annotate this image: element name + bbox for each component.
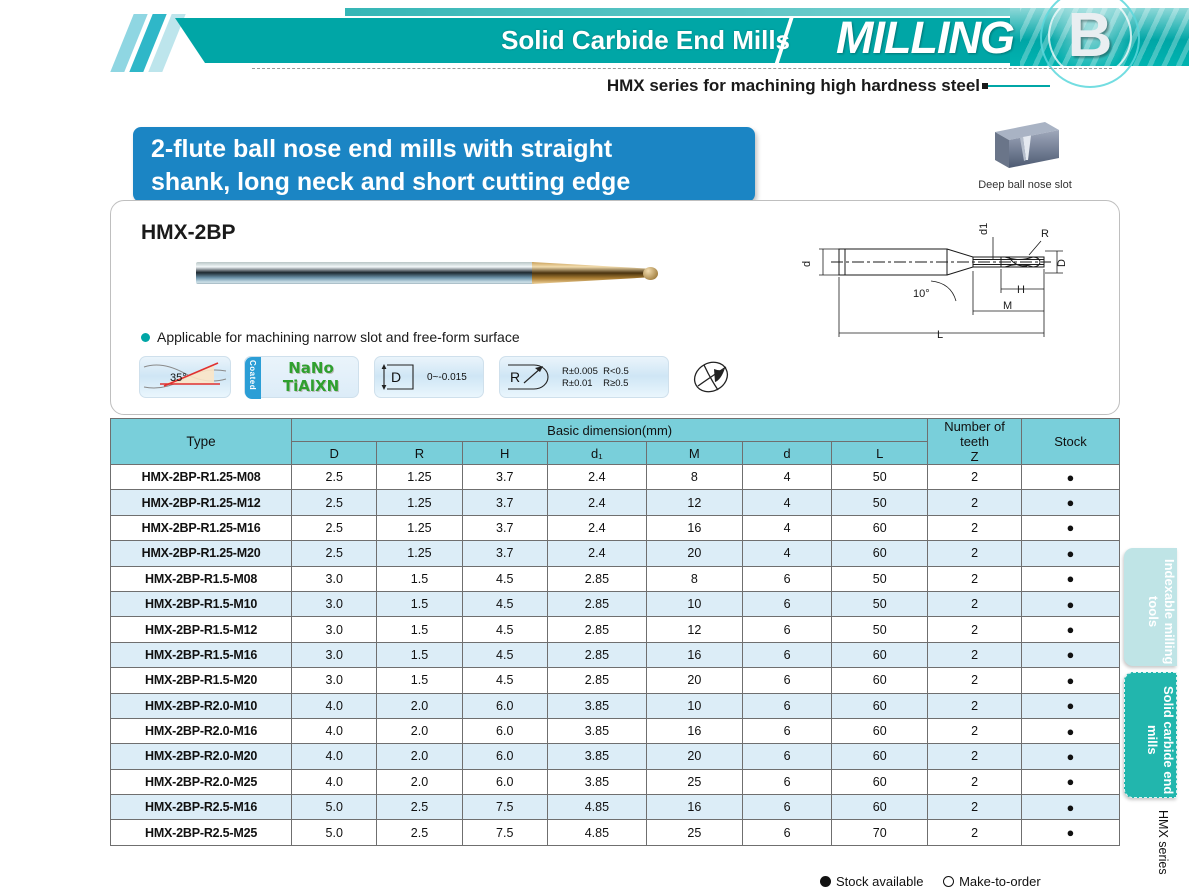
radius-tolerance-badge: R R±0.005 R<0.5 R±0.01 R≥0.5 [499, 356, 669, 398]
cell-M: 12 [646, 490, 742, 515]
cell-d: 6 [742, 591, 831, 616]
cell-R: 2.5 [377, 795, 462, 820]
cell-D: 2.5 [292, 465, 377, 490]
cell-H: 6.0 [462, 693, 547, 718]
cell-stock: ● [1021, 744, 1119, 769]
cell-d: 6 [742, 718, 831, 743]
col-header-teeth-l2: teeth [928, 434, 1021, 449]
cell-d: 6 [742, 617, 831, 642]
cell-M: 8 [646, 465, 742, 490]
cell-M: 20 [646, 541, 742, 566]
table-row: HMX-2BP-R1.25-M082.51.253.72.484502● [111, 465, 1120, 490]
table-row: HMX-2BP-R1.5-M123.01.54.52.85126502● [111, 617, 1120, 642]
cell-H: 6.0 [462, 718, 547, 743]
table-body: HMX-2BP-R1.25-M082.51.253.72.484502●HMX-… [111, 465, 1120, 846]
cell-Z: 2 [928, 617, 1022, 642]
radius-tolerance-icon: R [500, 357, 558, 397]
product-title-callout: 2-flute ball nose end mills with straigh… [133, 127, 755, 202]
applicable-note-text: Applicable for machining narrow slot and… [157, 329, 520, 345]
cell-M: 16 [646, 718, 742, 743]
cell-type: HMX-2BP-R2.0-M10 [111, 693, 292, 718]
cell-H: 4.5 [462, 668, 547, 693]
cell-D: 4.0 [292, 744, 377, 769]
cell-R: 1.5 [377, 642, 462, 667]
cell-d1: 3.85 [547, 718, 646, 743]
dim-label-angle: 10° [913, 288, 930, 300]
cell-Z: 2 [928, 820, 1022, 845]
cell-d: 4 [742, 515, 831, 540]
cell-D: 2.5 [292, 490, 377, 515]
cell-stock: ● [1021, 490, 1119, 515]
cell-d: 6 [742, 820, 831, 845]
cell-L: 60 [832, 515, 928, 540]
table-row: HMX-2BP-R1.25-M122.51.253.72.4124502● [111, 490, 1120, 515]
table-row: HMX-2BP-R1.5-M203.01.54.52.85206602● [111, 668, 1120, 693]
header-subtitle-leader-line [988, 85, 1050, 87]
col-header-d1: d₁ [547, 442, 646, 465]
diameter-tolerance-value: 0~-0.015 [427, 372, 467, 383]
cell-R: 1.5 [377, 591, 462, 616]
cell-Z: 2 [928, 744, 1022, 769]
cell-type: HMX-2BP-R2.5-M16 [111, 795, 292, 820]
table-row: HMX-2BP-R1.5-M163.01.54.52.85166602● [111, 642, 1120, 667]
rad-tol-1a: R±0.005 [562, 366, 598, 377]
coating-name-line2: TiAlXN [265, 377, 357, 395]
helix-angle-badge: 35° [139, 356, 231, 398]
bullet-dot-icon [141, 333, 150, 342]
cell-d1: 3.85 [547, 693, 646, 718]
table-row: HMX-2BP-R1.25-M202.51.253.72.4204602● [111, 541, 1120, 566]
cell-D: 3.0 [292, 591, 377, 616]
cell-H: 6.0 [462, 744, 547, 769]
tool-neck [532, 262, 652, 284]
cell-R: 1.5 [377, 566, 462, 591]
cell-M: 25 [646, 769, 742, 794]
cell-type: HMX-2BP-R1.25-M16 [111, 515, 292, 540]
feature-badge-row: 35° Coated NaNo TiAlXN D 0~-0.015 [139, 356, 699, 402]
cell-L: 60 [832, 693, 928, 718]
cell-type: HMX-2BP-R1.25-M20 [111, 541, 292, 566]
cell-H: 3.7 [462, 515, 547, 540]
cell-R: 2.0 [377, 718, 462, 743]
cell-stock: ● [1021, 591, 1119, 616]
col-header-R: R [377, 442, 462, 465]
cell-M: 12 [646, 617, 742, 642]
cell-M: 10 [646, 693, 742, 718]
col-header-D: D [292, 442, 377, 465]
cell-d: 6 [742, 566, 831, 591]
cell-D: 3.0 [292, 566, 377, 591]
table-row: HMX-2BP-R2.5-M255.02.57.54.85256702● [111, 820, 1120, 845]
cell-stock: ● [1021, 566, 1119, 591]
cell-L: 60 [832, 769, 928, 794]
cell-R: 2.0 [377, 693, 462, 718]
product-title-line-1: 2-flute ball nose end mills with straigh… [151, 133, 737, 166]
page-header: Solid Carbide End Mills MILLING B HMX se… [0, 0, 1189, 105]
sidebar-series-label: HMX series [1130, 810, 1170, 880]
table-row: HMX-2BP-R2.5-M165.02.57.54.85166602● [111, 795, 1120, 820]
cell-d1: 2.85 [547, 617, 646, 642]
cell-M: 20 [646, 744, 742, 769]
header-subtitle: HMX series for machining high hardness s… [380, 74, 980, 98]
cell-d: 4 [742, 490, 831, 515]
cell-d1: 4.85 [547, 795, 646, 820]
col-header-H: H [462, 442, 547, 465]
col-header-d: d [742, 442, 831, 465]
cell-stock: ● [1021, 465, 1119, 490]
cell-Z: 2 [928, 693, 1022, 718]
cell-R: 1.25 [377, 515, 462, 540]
cell-L: 60 [832, 795, 928, 820]
dim-label-R: R [1041, 228, 1049, 240]
cell-d1: 2.4 [547, 541, 646, 566]
cell-type: HMX-2BP-R1.25-M08 [111, 465, 292, 490]
cell-R: 1.5 [377, 668, 462, 693]
cell-R: 1.25 [377, 490, 462, 515]
cell-Z: 2 [928, 566, 1022, 591]
legend-stock-available: Stock available [836, 874, 923, 889]
cell-d1: 2.4 [547, 490, 646, 515]
make-to-order-icon [943, 876, 954, 887]
cell-d: 6 [742, 769, 831, 794]
coating-name-line1: NaNo [265, 359, 357, 377]
cell-M: 8 [646, 566, 742, 591]
flute-geometry-icon [684, 356, 740, 398]
cell-d1: 2.85 [547, 642, 646, 667]
cell-type: HMX-2BP-R2.0-M16 [111, 718, 292, 743]
cell-type: HMX-2BP-R1.5-M20 [111, 668, 292, 693]
cell-L: 50 [832, 617, 928, 642]
table-row: HMX-2BP-R2.0-M164.02.06.03.85166602● [111, 718, 1120, 743]
table-row: HMX-2BP-R2.0-M204.02.06.03.85206602● [111, 744, 1120, 769]
cell-H: 6.0 [462, 769, 547, 794]
cell-L: 60 [832, 642, 928, 667]
cell-type: HMX-2BP-R1.25-M12 [111, 490, 292, 515]
cell-M: 16 [646, 795, 742, 820]
dimension-drawing: d d1 R D H M L 10° [801, 221, 1111, 346]
cell-Z: 2 [928, 668, 1022, 693]
cell-d: 6 [742, 744, 831, 769]
dim-label-H: H [1017, 284, 1025, 296]
coating-badge: Coated NaNo TiAlXN [244, 356, 359, 398]
cell-Z: 2 [928, 465, 1022, 490]
cell-stock: ● [1021, 795, 1119, 820]
cell-M: 20 [646, 668, 742, 693]
cell-d1: 2.4 [547, 465, 646, 490]
cell-H: 3.7 [462, 490, 547, 515]
cell-R: 1.25 [377, 465, 462, 490]
dim-label-d1: d1 [978, 223, 990, 235]
cell-R: 1.25 [377, 541, 462, 566]
cell-Z: 2 [928, 490, 1022, 515]
rad-tol-2b: R≥0.5 [603, 378, 628, 389]
col-header-basic-dimension: Basic dimension(mm) [292, 419, 928, 442]
cell-L: 60 [832, 541, 928, 566]
cell-type: HMX-2BP-R1.5-M08 [111, 566, 292, 591]
cell-type: HMX-2BP-R2.0-M20 [111, 744, 292, 769]
cell-H: 3.7 [462, 541, 547, 566]
header-subtitle-leader-dot [982, 83, 988, 89]
cell-D: 2.5 [292, 515, 377, 540]
cell-M: 16 [646, 642, 742, 667]
coating-name: NaNo TiAlXN [265, 359, 357, 397]
helix-angle-value: 35° [170, 372, 187, 384]
cell-d: 6 [742, 795, 831, 820]
applicable-note: Applicable for machining narrow slot and… [141, 329, 520, 345]
dimension-drawing-svg: d d1 R D H M L 10° [801, 221, 1111, 346]
cell-H: 4.5 [462, 642, 547, 667]
cell-D: 4.0 [292, 693, 377, 718]
flute-geometry-badge [684, 356, 746, 398]
cell-R: 2.5 [377, 820, 462, 845]
cell-D: 4.0 [292, 769, 377, 794]
col-header-teeth-l1: Number of [928, 419, 1021, 434]
col-header-L: L [832, 442, 928, 465]
header-dashed-rule [252, 68, 1112, 69]
diameter-symbol: D [391, 369, 401, 385]
cell-Z: 2 [928, 769, 1022, 794]
side-tab-rail: Indexable milling tools Solid carbide en… [1124, 548, 1189, 878]
cell-L: 60 [832, 744, 928, 769]
product-model-name: HMX-2BP [141, 221, 236, 245]
col-header-type: Type [111, 419, 292, 465]
cell-stock: ● [1021, 668, 1119, 693]
cell-R: 2.0 [377, 769, 462, 794]
cell-type: HMX-2BP-R2.0-M25 [111, 769, 292, 794]
table-row: HMX-2BP-R1.5-M103.01.54.52.85106502● [111, 591, 1120, 616]
dim-label-d: d [801, 261, 813, 267]
cell-Z: 2 [928, 795, 1022, 820]
cell-Z: 2 [928, 591, 1022, 616]
table-row: HMX-2BP-R2.0-M254.02.06.03.85256602● [111, 769, 1120, 794]
cell-D: 3.0 [292, 668, 377, 693]
cell-Z: 2 [928, 541, 1022, 566]
cell-R: 2.0 [377, 744, 462, 769]
cell-L: 50 [832, 591, 928, 616]
tool-shank [196, 262, 534, 284]
cell-Z: 2 [928, 642, 1022, 667]
cell-type: HMX-2BP-R1.5-M16 [111, 642, 292, 667]
cell-stock: ● [1021, 718, 1119, 743]
cell-H: 7.5 [462, 795, 547, 820]
rad-tol-2a: R±0.01 [562, 378, 593, 389]
dim-label-L: L [937, 329, 943, 341]
deep-ball-nose-slot-illustration: Deep ball nose slot [955, 118, 1095, 198]
cell-L: 60 [832, 668, 928, 693]
col-header-M: M [646, 442, 742, 465]
coated-tab-label: Coated [248, 360, 257, 390]
cell-stock: ● [1021, 693, 1119, 718]
cell-d1: 2.85 [547, 591, 646, 616]
cell-H: 4.5 [462, 591, 547, 616]
table-row: HMX-2BP-R1.5-M083.01.54.52.8586502● [111, 566, 1120, 591]
diameter-tolerance-badge: D 0~-0.015 [374, 356, 484, 398]
header-title: Solid Carbide End Mills [430, 20, 790, 60]
table-row: HMX-2BP-R2.0-M104.02.06.03.85106602● [111, 693, 1120, 718]
product-info-card: HMX-2BP Applicable for machining narrow … [110, 200, 1120, 415]
cell-D: 3.0 [292, 617, 377, 642]
tool-ball-nose-tip [643, 267, 658, 280]
cell-stock: ● [1021, 515, 1119, 540]
cell-H: 3.7 [462, 465, 547, 490]
sidebar-tab-indexable-milling-tools[interactable]: Indexable milling tools [1124, 548, 1177, 666]
cell-Z: 2 [928, 515, 1022, 540]
cell-d: 6 [742, 693, 831, 718]
dim-label-M: M [1003, 300, 1012, 312]
cell-M: 10 [646, 591, 742, 616]
cell-d1: 2.4 [547, 515, 646, 540]
cell-d: 4 [742, 541, 831, 566]
cell-type: HMX-2BP-R1.5-M12 [111, 617, 292, 642]
dim-label-D: D [1056, 259, 1068, 267]
cell-d1: 2.85 [547, 566, 646, 591]
cell-D: 5.0 [292, 795, 377, 820]
sidebar-tab-solid-carbide-end-mills[interactable]: Solid carbide end mills [1124, 672, 1177, 798]
end-mill-product-photo [196, 256, 666, 290]
tab-solid-line1: Solid carbide [1161, 686, 1176, 768]
diameter-tolerance-icon: D [375, 357, 421, 397]
cell-D: 4.0 [292, 718, 377, 743]
stock-legend: Stock available Make-to-order [820, 872, 1120, 892]
cell-type: HMX-2BP-R2.5-M25 [111, 820, 292, 845]
cell-M: 16 [646, 515, 742, 540]
col-header-teeth: Number of teeth Z [928, 419, 1022, 465]
cell-d1: 2.85 [547, 668, 646, 693]
cell-stock: ● [1021, 642, 1119, 667]
cell-stock: ● [1021, 820, 1119, 845]
cell-stock: ● [1021, 617, 1119, 642]
table-row: HMX-2BP-R1.25-M162.51.253.72.4164602● [111, 515, 1120, 540]
cell-d: 6 [742, 642, 831, 667]
cell-H: 4.5 [462, 566, 547, 591]
cell-Z: 2 [928, 718, 1022, 743]
col-header-stock: Stock [1021, 419, 1119, 465]
slot-icon-caption: Deep ball nose slot [955, 179, 1095, 191]
cell-d1: 3.85 [547, 744, 646, 769]
cell-H: 4.5 [462, 617, 547, 642]
cell-L: 50 [832, 465, 928, 490]
product-title-line-2: shank, long neck and short cutting edge [151, 166, 737, 199]
header-section-label: MILLING [800, 10, 1050, 66]
coated-tab: Coated [245, 357, 261, 399]
cell-type: HMX-2BP-R1.5-M10 [111, 591, 292, 616]
cell-D: 2.5 [292, 541, 377, 566]
col-header-teeth-l3: Z [928, 449, 1021, 464]
cell-L: 50 [832, 566, 928, 591]
stock-available-icon [820, 876, 831, 887]
cell-d1: 3.85 [547, 769, 646, 794]
cell-H: 7.5 [462, 820, 547, 845]
cell-d: 6 [742, 668, 831, 693]
radius-symbol: R [510, 369, 520, 385]
tab-indexable-line1: Indexable [1162, 559, 1177, 619]
cell-d: 4 [742, 465, 831, 490]
cell-R: 1.5 [377, 617, 462, 642]
table-head: Type Basic dimension(mm) Number of teeth… [111, 419, 1120, 465]
cell-M: 25 [646, 820, 742, 845]
cell-D: 5.0 [292, 820, 377, 845]
cell-L: 70 [832, 820, 928, 845]
section-badge-letter: B [1060, 0, 1120, 72]
cell-L: 60 [832, 718, 928, 743]
cell-L: 50 [832, 490, 928, 515]
cell-stock: ● [1021, 769, 1119, 794]
radius-tolerance-values: R±0.005 R<0.5 R±0.01 R≥0.5 [562, 366, 629, 390]
cell-D: 3.0 [292, 642, 377, 667]
table-header-row-1: Type Basic dimension(mm) Number of teeth… [111, 419, 1120, 442]
cell-d1: 4.85 [547, 820, 646, 845]
deep-ball-nose-slot-icon [987, 118, 1063, 170]
specification-table: Type Basic dimension(mm) Number of teeth… [110, 418, 1120, 846]
legend-make-to-order: Make-to-order [959, 874, 1041, 889]
rad-tol-1b: R<0.5 [603, 366, 629, 377]
cell-stock: ● [1021, 541, 1119, 566]
helix-angle-icon: 35° [140, 357, 230, 397]
